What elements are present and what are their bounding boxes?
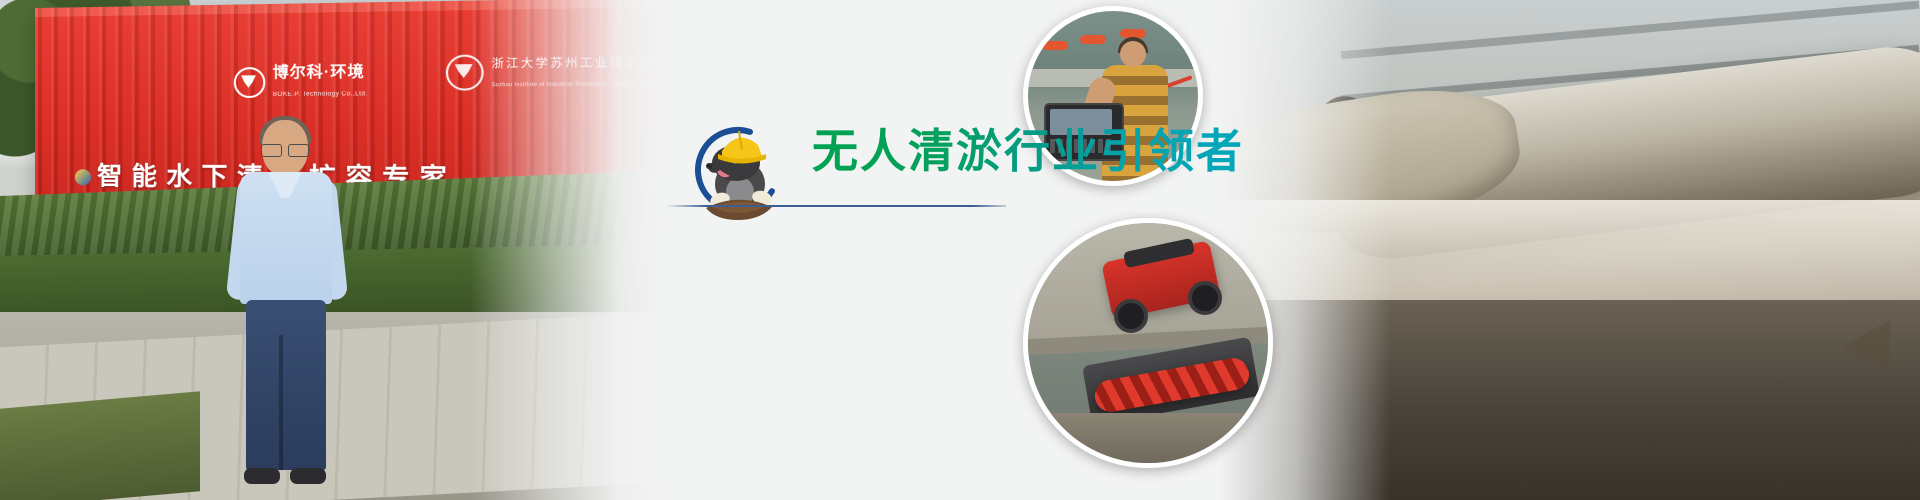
direction-arrow-icon (1844, 320, 1890, 372)
right-photo (1220, 0, 1920, 500)
hero-banner: 博尔科·环境 BOKE.P. Technology Co.,Ltd. 浙江大学苏… (0, 0, 1920, 500)
shoe-right (290, 468, 326, 484)
headline-text: 无人清淤行业引领者 (812, 124, 1244, 178)
engineer-portrait (232, 120, 342, 500)
container-brand-logo: 博尔科·环境 BOKE.P. Technology Co.,Ltd. (234, 63, 368, 101)
left-photo-fade (470, 0, 660, 500)
page-title: 无人清淤行业引领者 (812, 126, 1244, 176)
title-divider (666, 205, 1006, 207)
trousers (246, 300, 326, 470)
slogan-bullet-icon (75, 170, 91, 186)
shoe-left (244, 468, 280, 484)
leg-split (279, 335, 283, 470)
brand-seal-icon (234, 67, 266, 98)
container-brand-en: BOKE.P. Technology Co.,Ltd. (273, 91, 368, 98)
robot-wheel-right (1188, 281, 1222, 315)
grass-patch (0, 391, 200, 500)
center-content: MUD MOLE 无人清淤行业引领者 (660, 0, 1180, 500)
left-photo: 博尔科·环境 BOKE.P. Technology Co.,Ltd. 浙江大学苏… (0, 0, 660, 500)
glasses-icon (261, 144, 309, 155)
container-brand-cn: 博尔科·环境 (273, 63, 365, 81)
